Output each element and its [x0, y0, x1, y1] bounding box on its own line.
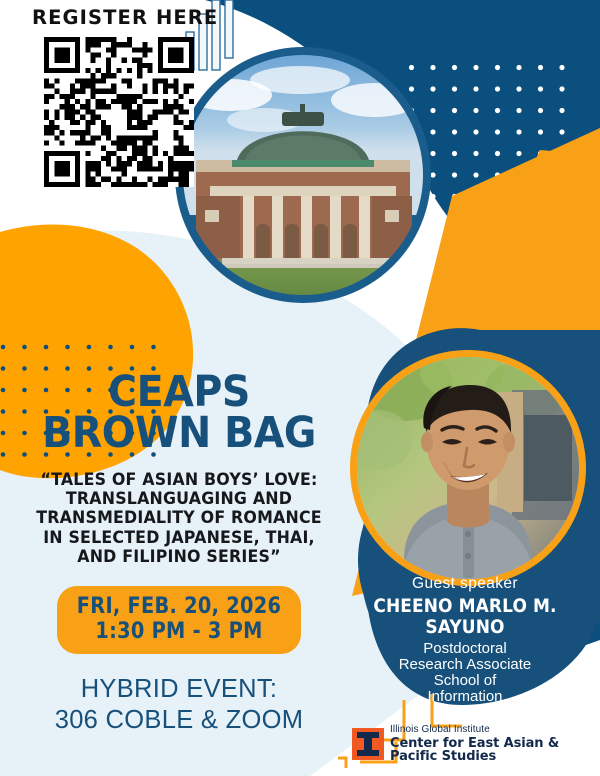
event-date: FRI, FEB. 20, 2026 [72, 595, 287, 620]
affiliation-line: Sciences [330, 705, 600, 721]
main-text-column: CEAPS BROWN BAG “TALES OF ASIAN BOYS’ LO… [14, 372, 344, 736]
speaker-name: CHEENO MARLO M. SAYUNO [341, 596, 589, 638]
affiliation-line: Information [330, 689, 600, 705]
qr-code-icon[interactable] [44, 37, 194, 187]
talk-title: “TALES OF ASIAN BOYS’ LOVE: TRANSLANGUAG… [28, 470, 329, 566]
logo-institute-name: Illinois Global Institute [390, 725, 600, 735]
speaker-affiliation: Postdoctoral Research Associate School o… [330, 641, 600, 720]
qr-code[interactable] [44, 37, 194, 187]
logo-center-name: Center for East Asian & Pacific Studies [390, 737, 600, 763]
organization-logo: Illinois Global Institute Center for Eas… [352, 725, 600, 763]
venue-block: HYBRID EVENT: 306 COBLE & ZOOM [14, 674, 344, 735]
headline-line-2: BROWN BAG [27, 413, 331, 454]
register-block: REGISTER HERE [24, 6, 234, 187]
affiliation-line: Postdoctoral [330, 641, 600, 657]
venue-line-2: 306 COBLE & ZOOM [14, 705, 344, 736]
speaker-block: Guest speaker CHEENO MARLO M. SAYUNO Pos… [330, 575, 600, 720]
register-here-heading: REGISTER HERE [32, 6, 234, 29]
affiliation-line: Research Associate [330, 657, 600, 673]
guest-speaker-label: Guest speaker [330, 575, 600, 593]
event-poster: REGISTER HERE CEAPS BROWN BAG “TALES OF … [0, 0, 600, 776]
event-time: 1:30 PM - 3 PM [72, 620, 287, 645]
page-title: CEAPS BROWN BAG [27, 372, 331, 454]
affiliation-line: School of [330, 673, 600, 689]
venue-line-1: HYBRID EVENT: [14, 674, 344, 705]
date-time-badge: FRI, FEB. 20, 2026 1:30 PM - 3 PM [57, 586, 301, 654]
logo-text: Illinois Global Institute Center for Eas… [390, 725, 600, 763]
illinois-block-i-icon [352, 728, 384, 760]
